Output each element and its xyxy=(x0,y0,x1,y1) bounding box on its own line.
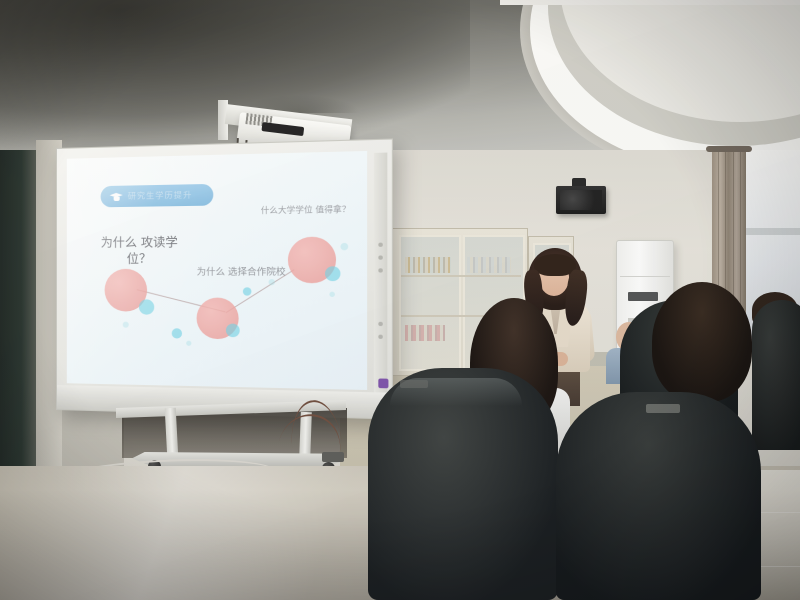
whiteboard-indicator xyxy=(378,255,382,259)
whiteboard-indicator xyxy=(378,243,382,247)
whiteboard-screen[interactable]: 研究生学历提升 为什么 攻读学位？ 为什么 选择合作院校 什么大学学位 值得拿？ xyxy=(67,151,367,390)
curtain-rod xyxy=(706,146,752,152)
air-conditioner-vent xyxy=(628,292,658,301)
chair-back-right[interactable] xyxy=(752,300,800,450)
slide-bubble xyxy=(186,341,191,346)
cabinet-books xyxy=(405,257,451,273)
whiteboard-power-led[interactable] xyxy=(378,378,388,388)
chair-tag xyxy=(646,404,680,413)
slide-label-right: 什么大学学位 值得拿？ xyxy=(254,204,359,217)
audience-front-right-hair xyxy=(652,282,752,402)
cabinet-books xyxy=(467,257,511,273)
ceiling-upper-fill xyxy=(500,0,800,5)
slide-title-banner: 研究生学历提升 xyxy=(101,184,214,207)
cabinet-door-left[interactable] xyxy=(399,235,461,371)
slide-label-middle: 为什么 选择合作院校 xyxy=(192,266,290,279)
slide-bubble xyxy=(123,322,129,328)
ceiling-shadow xyxy=(0,0,470,150)
cabinet-shelf xyxy=(401,275,521,277)
chair-front-right[interactable] xyxy=(556,392,761,600)
speaker-grille xyxy=(560,190,602,210)
whiteboard-indicator xyxy=(378,335,382,339)
air-conditioner-seam xyxy=(620,276,670,277)
interactive-whiteboard[interactable]: 研究生学历提升 为什么 攻读学位？ 为什么 选择合作院校 什么大学学位 值得拿？ xyxy=(56,138,393,419)
slide-accent-dot xyxy=(226,324,240,338)
slide-bubble xyxy=(340,243,348,250)
window-mullion xyxy=(742,228,800,235)
slide-label-left: 为什么 攻读学位？ xyxy=(91,234,189,268)
slide-bubble xyxy=(269,279,275,285)
whiteboard-indicator xyxy=(378,322,382,326)
slide-bubble xyxy=(329,292,335,297)
doorway-dark xyxy=(0,150,36,480)
graduation-cap-icon xyxy=(110,192,123,201)
chair-tag xyxy=(400,380,428,388)
cabinet-books xyxy=(405,325,445,341)
slide-accent-dot xyxy=(139,299,154,314)
slide-banner-text: 研究生学历提升 xyxy=(128,189,193,201)
slide-accent-dot xyxy=(325,266,340,281)
classroom-photo: 研究生学历提升 为什么 攻读学位？ 为什么 选择合作院校 什么大学学位 值得拿？ xyxy=(0,0,800,600)
slide-accent-dot xyxy=(172,328,182,338)
whiteboard-indicator xyxy=(378,268,382,272)
slide-accent-dot xyxy=(243,287,252,295)
cable-connector-box xyxy=(322,452,344,462)
